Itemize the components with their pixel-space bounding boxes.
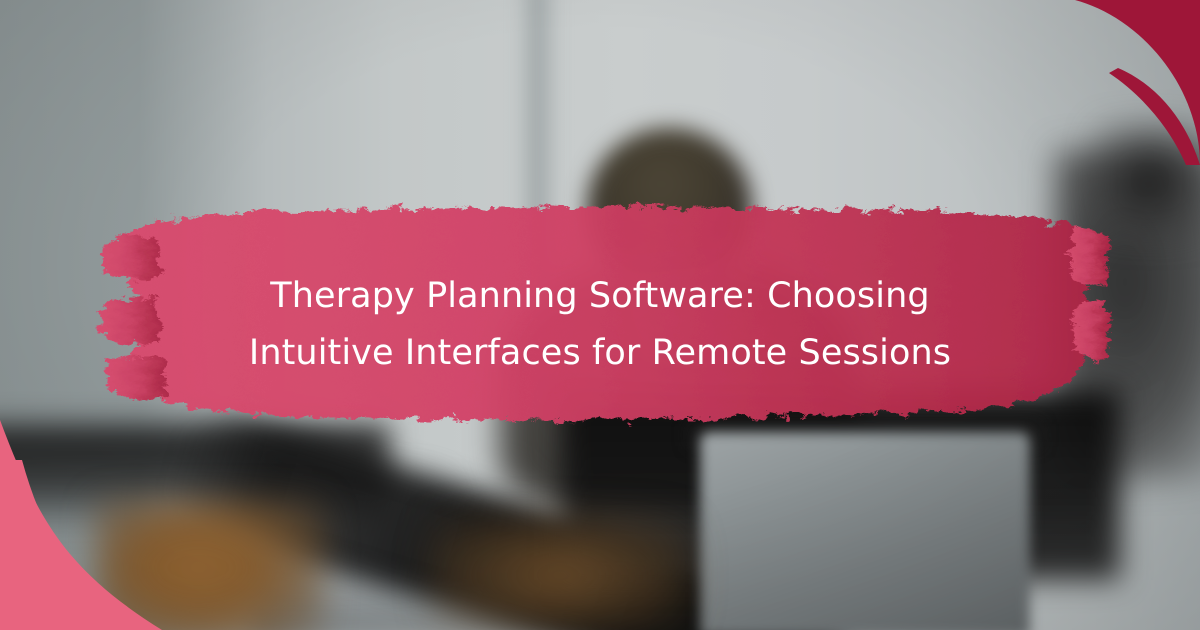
card-title: Therapy Planning Software: Choosing Intu…	[0, 268, 1200, 382]
share-card: Therapy Planning Software: Choosing Intu…	[0, 0, 1200, 630]
card-title-line-1: Therapy Planning Software: Choosing	[0, 268, 1200, 325]
card-title-line-2: Intuitive Interfaces for Remote Sessions	[0, 325, 1200, 382]
